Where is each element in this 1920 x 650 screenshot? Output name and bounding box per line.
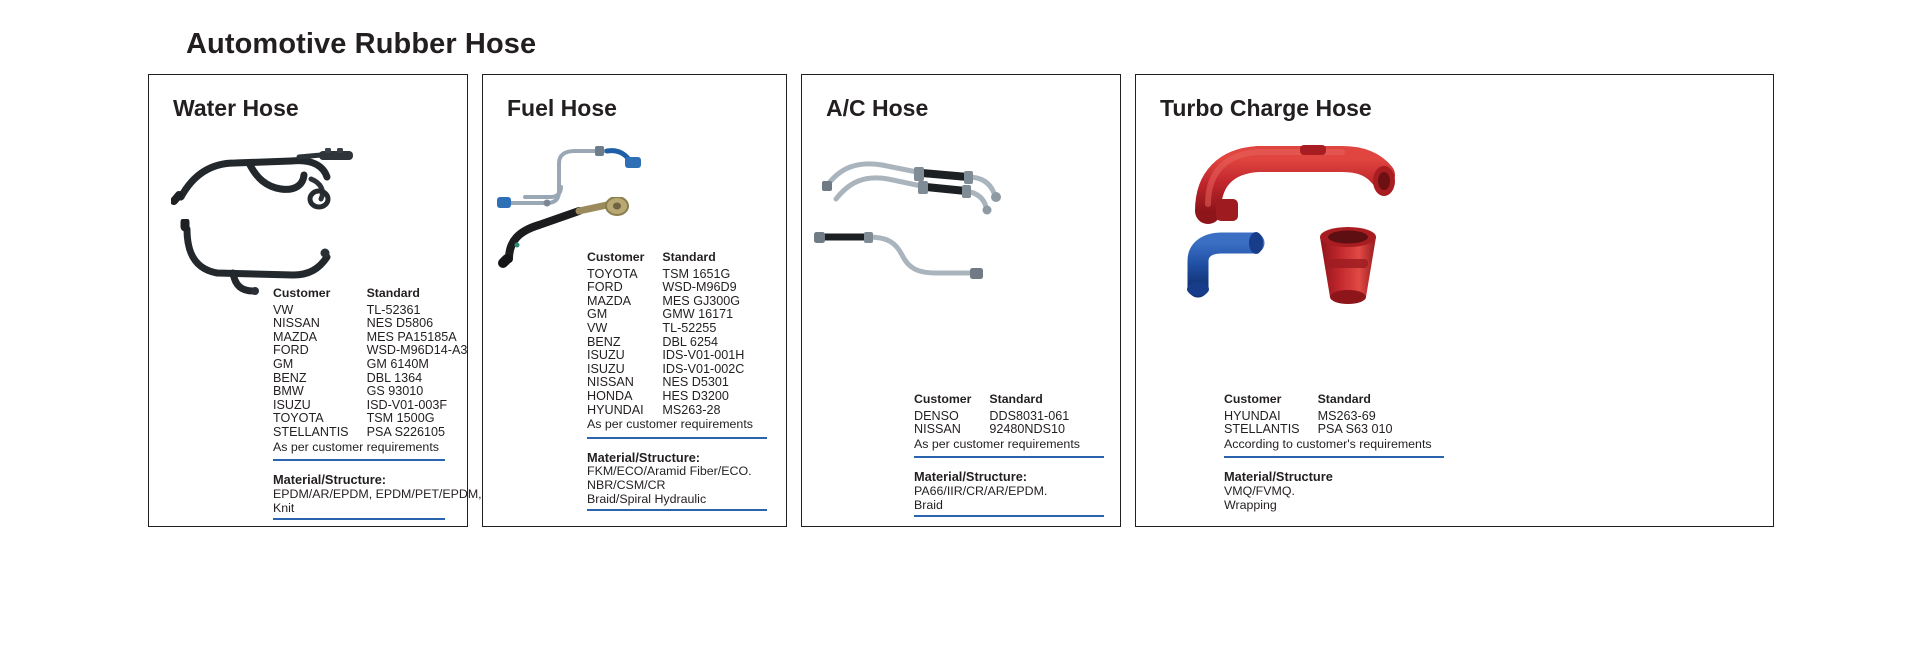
cell-customer: HYUNDAI [1224, 410, 1318, 424]
cell-standard: TL-52361 [367, 304, 468, 318]
ac-hose-assembly-photo [818, 147, 1018, 227]
cell-customer: NISSAN [273, 317, 367, 331]
water-hose-spec: Customer Standard VWTL-52361 NISSANNES D… [273, 287, 445, 520]
panel-title-water-hose: Water Hose [173, 95, 299, 122]
cell-standard: GS 93010 [367, 385, 468, 399]
material-line: EPDM/AR/EPDM, EPDM/PET/EPDM, [273, 487, 445, 501]
cell-customer: DENSO [914, 410, 989, 424]
cell-customer: BENZ [587, 336, 662, 350]
turbo-hose-spec: Customer Standard HYUNDAIMS263-69 STELLA… [1224, 393, 1444, 512]
table-row: VWTL-52361 [273, 304, 467, 318]
header-customer: Customer [273, 287, 367, 304]
material-line: PA66/IIR/CR/AR/EPDM. [914, 484, 1104, 498]
header-customer: Customer [1224, 393, 1318, 410]
panel-title-fuel-hose: Fuel Hose [507, 95, 617, 122]
table-row: TOYOTATSM 1651G [587, 268, 744, 282]
cell-customer: TOYOTA [587, 268, 662, 282]
customer-requirements-note: As per customer requirements [273, 441, 445, 458]
customer-requirements-note: According to customer's requirements [1224, 438, 1444, 455]
cell-standard: GMW 16171 [662, 308, 744, 322]
cell-customer: HONDA [587, 390, 662, 404]
cell-customer: NISSAN [587, 376, 662, 390]
panel-fuel-hose[interactable]: Fuel Hose [482, 74, 787, 527]
turbo-charge-hose-red-photo [1192, 141, 1402, 231]
table-row: ISUZUIDS-V01-001H [587, 349, 744, 363]
header-standard: Standard [989, 393, 1069, 410]
cell-customer: GM [587, 308, 662, 322]
material-line: Braid/Spiral Hydraulic [587, 492, 767, 506]
turbo-hose-red-cone-photo [1298, 221, 1408, 316]
cell-standard: WSD-M96D14-A3 [367, 344, 468, 358]
table-row: HONDAHES D3200 [587, 390, 744, 404]
panel-title-ac-hose: A/C Hose [826, 95, 928, 122]
table-row: ISUZUISD-V01-003F [273, 399, 467, 413]
cell-customer: GM [273, 358, 367, 372]
cell-standard: IDS-V01-002C [662, 363, 744, 377]
cell-standard: PSA S63 010 [1318, 423, 1393, 437]
table-row: BENZDBL 6254 [587, 336, 744, 350]
hose-category-panels: Water Hose [148, 74, 1774, 527]
table-row: STELLANTISPSA S226105 [273, 426, 467, 440]
material-structure-heading: Material/Structure: [273, 473, 445, 487]
cell-customer: BENZ [273, 372, 367, 386]
table-row: BENZDBL 1364 [273, 372, 467, 386]
table-row: NISSAN92480NDS10 [914, 423, 1069, 437]
cell-standard: MES PA15185A [367, 331, 468, 345]
cell-standard: MES GJ300G [662, 295, 744, 309]
ac-hose-spec: Customer Standard DENSODDS8031-061 NISSA… [914, 393, 1104, 517]
water-hose-assembly-photo [171, 139, 371, 229]
cell-customer: FORD [273, 344, 367, 358]
ac-hose-photos [802, 131, 1120, 321]
table-header-row: Customer Standard [587, 251, 744, 268]
table-row: TOYOTATSM 1500G [273, 412, 467, 426]
cell-customer: NISSAN [914, 423, 989, 437]
material-line: FKM/ECO/Aramid Fiber/ECO. [587, 464, 767, 478]
table-row: HYUNDAIMS263-69 [1224, 410, 1393, 424]
header-standard: Standard [662, 251, 744, 268]
page-title: Automotive Rubber Hose [186, 28, 536, 61]
cell-customer: BMW [273, 385, 367, 399]
cell-customer: ISUZU [587, 349, 662, 363]
cell-standard: HES D3200 [662, 390, 744, 404]
material-structure-heading: Material/Structure: [914, 470, 1104, 484]
cell-standard: MS263-69 [1318, 410, 1393, 424]
table-row: VWTL-52255 [587, 322, 744, 336]
panel-ac-hose[interactable]: A/C Hose [801, 74, 1121, 527]
cell-customer: STELLANTIS [1224, 423, 1318, 437]
cell-customer: ISUZU [587, 363, 662, 377]
table-row: HYUNDAIMS263-28 [587, 404, 744, 418]
divider-rule [914, 456, 1104, 458]
material-line: Braid [914, 498, 1104, 512]
table-row: MAZDAMES PA15185A [273, 331, 467, 345]
cell-standard: NES D5806 [367, 317, 468, 331]
cell-standard: ISD-V01-003F [367, 399, 468, 413]
divider-rule-bottom [914, 515, 1104, 517]
fuel-hose-spec: Customer Standard TOYOTATSM 1651G FORDWS… [587, 251, 767, 511]
cell-customer: STELLANTIS [273, 426, 367, 440]
table-row: DENSODDS8031-061 [914, 410, 1069, 424]
fuel-hose-table: Customer Standard TOYOTATSM 1651G FORDWS… [587, 251, 744, 417]
cell-customer: TOYOTA [273, 412, 367, 426]
table-row: FORDWSD-M96D14-A3 [273, 344, 467, 358]
header-customer: Customer [587, 251, 662, 268]
ac-hose-table: Customer Standard DENSODDS8031-061 NISSA… [914, 393, 1069, 437]
table-row: GMGM 6140M [273, 358, 467, 372]
table-row: MAZDAMES GJ300G [587, 295, 744, 309]
table-header-row: Customer Standard [1224, 393, 1393, 410]
material-line: Wrapping [1224, 498, 1444, 512]
material-structure-heading: Material/Structure: [587, 451, 767, 465]
cell-customer: HYUNDAI [587, 404, 662, 418]
cell-standard: NES D5301 [662, 376, 744, 390]
header-standard: Standard [1318, 393, 1393, 410]
cell-customer: ISUZU [273, 399, 367, 413]
cell-standard: DBL 6254 [662, 336, 744, 350]
turbo-hose-table: Customer Standard HYUNDAIMS263-69 STELLA… [1224, 393, 1393, 437]
panel-title-turbo-charge-hose: Turbo Charge Hose [1160, 95, 1372, 122]
table-row: FORDWSD-M96D9 [587, 281, 744, 295]
panel-turbo-charge-hose[interactable]: Turbo Charge Hose [1135, 74, 1774, 527]
cell-standard: TSM 1651G [662, 268, 744, 282]
cell-standard: GM 6140M [367, 358, 468, 372]
header-customer: Customer [914, 393, 989, 410]
header-standard: Standard [367, 287, 468, 304]
table-row: NISSANNES D5301 [587, 376, 744, 390]
table-row: ISUZUIDS-V01-002C [587, 363, 744, 377]
table-row: GMGMW 16171 [587, 308, 744, 322]
material-line: NBR/CSM/CR [587, 478, 767, 492]
table-row: STELLANTISPSA S63 010 [1224, 423, 1393, 437]
cell-customer: FORD [587, 281, 662, 295]
cell-customer: VW [273, 304, 367, 318]
divider-rule [587, 437, 767, 439]
cell-standard: PSA S226105 [367, 426, 468, 440]
material-structure-heading: Material/Structure [1224, 470, 1444, 484]
cell-standard: DDS8031-061 [989, 410, 1069, 424]
customer-requirements-note: As per customer requirements [587, 418, 767, 435]
cell-standard: WSD-M96D9 [662, 281, 744, 295]
divider-rule [273, 459, 445, 461]
turbo-hose-photos [1136, 131, 1773, 341]
cell-standard: 92480NDS10 [989, 423, 1069, 437]
table-row: NISSANNES D5806 [273, 317, 467, 331]
cell-customer: MAZDA [587, 295, 662, 309]
panel-water-hose[interactable]: Water Hose [148, 74, 468, 527]
cell-standard: DBL 1364 [367, 372, 468, 386]
material-line: Knit [273, 501, 445, 515]
cell-customer: VW [587, 322, 662, 336]
ac-hose-straight-photo [812, 227, 1002, 289]
cell-standard: TL-52255 [662, 322, 744, 336]
water-hose-table: Customer Standard VWTL-52361 NISSANNES D… [273, 287, 467, 440]
divider-rule [1224, 456, 1444, 458]
divider-rule-bottom [273, 518, 445, 520]
cell-standard: IDS-V01-001H [662, 349, 744, 363]
customer-requirements-note: As per customer requirements [914, 438, 1104, 455]
table-row: BMWGS 93010 [273, 385, 467, 399]
table-header-row: Customer Standard [914, 393, 1069, 410]
turbo-hose-blue-elbow-photo [1182, 227, 1292, 307]
poster-page: Automotive Rubber Hose Water Hose [0, 0, 1920, 650]
divider-rule-bottom [587, 509, 767, 511]
material-line: VMQ/FVMQ. [1224, 484, 1444, 498]
cell-customer: MAZDA [273, 331, 367, 345]
cell-standard: MS263-28 [662, 404, 744, 418]
cell-standard: TSM 1500G [367, 412, 468, 426]
table-header-row: Customer Standard [273, 287, 467, 304]
